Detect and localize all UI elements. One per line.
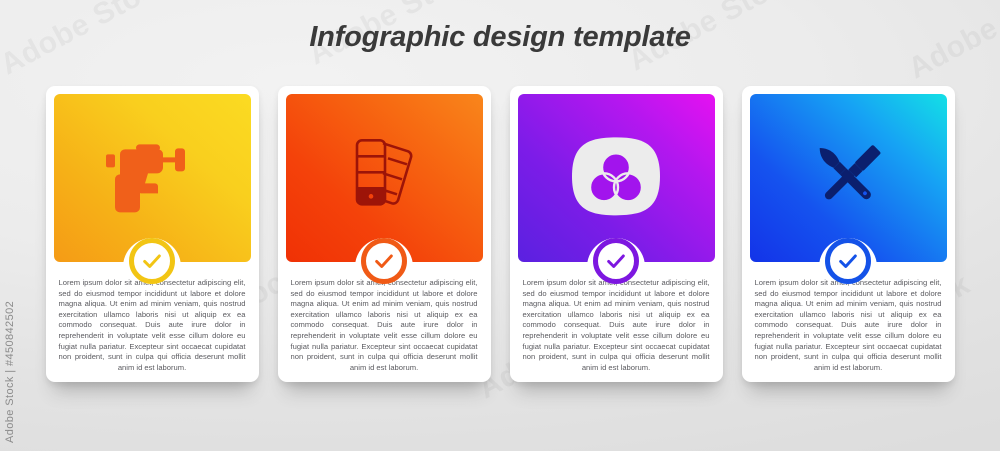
badge-ring xyxy=(129,238,175,284)
status-badge xyxy=(361,238,407,284)
card-icon-panel xyxy=(54,94,251,262)
paint-spray-gun-icon xyxy=(104,134,200,218)
card-icon-panel xyxy=(286,94,483,262)
card-icon-panel xyxy=(750,94,947,262)
check-icon xyxy=(837,250,859,272)
card-icon-panel xyxy=(518,94,715,262)
check-icon xyxy=(141,250,163,272)
infographic-card[interactable]: Lorem ipsum dolor sit amet, consectetur … xyxy=(742,86,955,382)
check-icon xyxy=(373,250,395,272)
card-description: Lorem ipsum dolor sit amet, consectetur … xyxy=(523,278,710,373)
crossed-paint-brushes-icon xyxy=(800,134,896,218)
status-badge xyxy=(593,238,639,284)
page-title: Infographic design template xyxy=(0,21,1000,54)
infographic-card[interactable]: Lorem ipsum dolor sit amet, consectetur … xyxy=(510,86,723,382)
status-badge xyxy=(825,238,871,284)
rgb-color-circles-icon xyxy=(568,134,664,218)
badge-ring xyxy=(361,238,407,284)
card-description: Lorem ipsum dolor sit amet, consectetur … xyxy=(755,278,942,373)
card-description: Lorem ipsum dolor sit amet, consectetur … xyxy=(291,278,478,373)
check-icon xyxy=(605,250,627,272)
infographic-card[interactable]: Lorem ipsum dolor sit amet, consectetur … xyxy=(278,86,491,382)
infographic-card[interactable]: Lorem ipsum dolor sit amet, consectetur … xyxy=(46,86,259,382)
card-description: Lorem ipsum dolor sit amet, consectetur … xyxy=(59,278,246,373)
badge-ring xyxy=(593,238,639,284)
card-row: Lorem ipsum dolor sit amet, consectetur … xyxy=(0,86,1000,396)
infographic-canvas: Adobe Stock Adobe Stock Adobe Stock Adob… xyxy=(0,0,1000,451)
color-palette-fan-icon xyxy=(336,134,432,218)
badge-ring xyxy=(825,238,871,284)
status-badge xyxy=(129,238,175,284)
